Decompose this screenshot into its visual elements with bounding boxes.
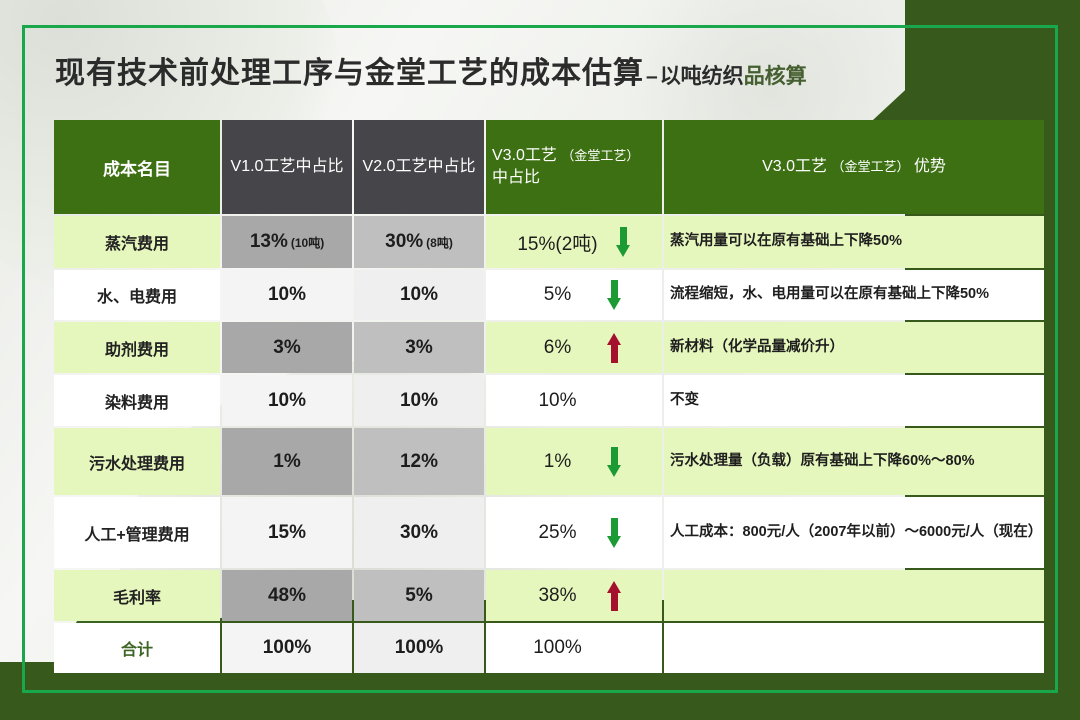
- cell-cost-name-total: 合计: [54, 623, 220, 673]
- v2-value: 12%: [400, 451, 438, 472]
- header-v3-paren: （金堂工艺）: [561, 148, 639, 163]
- v2-value: 30%: [385, 231, 423, 252]
- cell-v3-share: 15%(2吨): [486, 216, 662, 268]
- header-v1-share: V1.0工艺中占比: [222, 120, 352, 214]
- table-row: 染料费用 10% 10% 10% 不变: [54, 375, 1044, 426]
- cell-v2-share: 3%: [354, 322, 484, 373]
- slide-canvas: 现有技术前处理工序与金堂工艺的成本估算 – 以吨纺织品核算 成本名目 V1.0工…: [0, 0, 1080, 720]
- table-header: 成本名目 V1.0工艺中占比 V2.0工艺中占比 V3.0工艺 （金堂工艺） 中…: [54, 120, 1044, 214]
- cell-advantage: 蒸汽用量可以在原有基础上下降50%: [664, 216, 1044, 268]
- cell-v1-share: 48%: [222, 570, 352, 621]
- v2-value: 100%: [395, 637, 444, 658]
- header-cost-name: 成本名目: [54, 120, 220, 214]
- header-adv-paren: （金堂工艺）: [831, 159, 909, 174]
- cell-advantage: 新材料（化学品量减价升）: [664, 322, 1044, 373]
- v1-value: 10%: [268, 390, 306, 411]
- table-row-total: 合计 100% 100% 100%: [54, 623, 1044, 673]
- cell-v3-share: 6%: [486, 322, 662, 373]
- header-adv-main: V3.0工艺: [762, 158, 827, 175]
- cost-comparison-table: 成本名目 V1.0工艺中占比 V2.0工艺中占比 V3.0工艺 （金堂工艺） 中…: [52, 118, 1046, 675]
- cell-v2-share: 30%(8吨): [354, 216, 484, 268]
- v2-value: 5%: [405, 585, 432, 606]
- cell-v1-share: 15%: [222, 497, 352, 568]
- v1-note: (10吨): [291, 236, 324, 250]
- cell-cost-name: 染料费用: [54, 375, 220, 426]
- v3-value: 38%: [527, 585, 589, 607]
- cell-v2-share: 30%: [354, 497, 484, 568]
- v3-value: 5%: [527, 284, 589, 306]
- v2-value: 10%: [400, 284, 438, 305]
- title-subtitle: 以吨纺织品核算: [660, 60, 807, 90]
- arrow-up-icon: [607, 333, 622, 363]
- v3-value-group: 15%(2吨): [517, 229, 597, 256]
- table-row: 污水处理费用 1% 12% 1% 污水处理量（负载）原有基础上下降60%～80%: [54, 428, 1044, 495]
- v3-value: 100%: [527, 637, 589, 659]
- v3-value: 10%: [527, 390, 589, 412]
- v1-value: 10%: [268, 284, 306, 305]
- table-body: 蒸汽费用 13%(10吨) 30%(8吨) 15%(2吨) 蒸汽用量可以在原有基…: [54, 216, 1044, 673]
- cost-table-container: 成本名目 V1.0工艺中占比 V2.0工艺中占比 V3.0工艺 （金堂工艺） 中…: [52, 118, 1038, 675]
- header-v3-share: V3.0工艺 （金堂工艺） 中占比: [486, 120, 662, 214]
- cell-v1-share: 1%: [222, 428, 352, 495]
- header-v3-advantage: V3.0工艺 （金堂工艺） 优势: [664, 120, 1044, 214]
- v1-value: 13%: [250, 231, 288, 252]
- cell-v2-share: 12%: [354, 428, 484, 495]
- title-subtitle-visible: 以吨纺织: [660, 65, 744, 88]
- cell-advantage: 不变: [664, 375, 1044, 426]
- title-main-text: 现有技术前处理工序与金堂工艺的成本估算: [55, 48, 644, 92]
- v1-value: 15%: [268, 522, 306, 543]
- cell-v3-share: 10%: [486, 375, 662, 426]
- cell-v1-share: 10%: [222, 375, 352, 426]
- cell-v3-share: 38%: [486, 570, 662, 621]
- cell-v2-share: 10%: [354, 270, 484, 320]
- v1-value: 1%: [273, 451, 300, 472]
- header-v3-tail: 中占比: [492, 169, 540, 186]
- v2-value: 10%: [400, 390, 438, 411]
- header-v3-main: V3.0工艺: [492, 147, 557, 164]
- table-row: 毛利率 48% 5% 38%: [54, 570, 1044, 621]
- cell-advantage: 流程缩短，水、电用量可以在原有基础上下降50%: [664, 270, 1044, 320]
- page-title: 现有技术前处理工序与金堂工艺的成本估算 – 以吨纺织品核算: [55, 48, 807, 92]
- arrow-down-icon: [616, 227, 631, 257]
- cell-v2-share: 10%: [354, 375, 484, 426]
- v3-value: 6%: [527, 337, 589, 359]
- cell-v1-share: 10%: [222, 270, 352, 320]
- cell-cost-name: 蒸汽费用: [54, 216, 220, 268]
- v3-value: 1%: [527, 451, 589, 473]
- arrow-none-icon: [607, 386, 622, 416]
- cell-advantage: 人工成本：800元/人（2007年以前）～6000元/人（现在）: [664, 497, 1044, 568]
- cell-v3-share: 25%: [486, 497, 662, 568]
- table-row: 助剂费用 3% 3% 6% 新材料（化学品量减价升）: [54, 322, 1044, 373]
- v1-value: 100%: [263, 637, 312, 658]
- title-subtitle-occluded: 品核算: [744, 65, 807, 88]
- cell-v1-share: 13%(10吨): [222, 216, 352, 268]
- cell-v1-share: 3%: [222, 322, 352, 373]
- cell-v3-share: 100%: [486, 623, 662, 673]
- cell-advantage: [664, 623, 1044, 673]
- cell-advantage: [664, 570, 1044, 621]
- v3-value: 15%: [517, 234, 555, 255]
- cell-cost-name: 助剂费用: [54, 322, 220, 373]
- header-adv-tail: 优势: [914, 158, 946, 175]
- cell-cost-name: 污水处理费用: [54, 428, 220, 495]
- table-row: 人工+管理费用 15% 30% 25% 人工成本：800元/人（2007年以前）…: [54, 497, 1044, 568]
- table-header-row: 成本名目 V1.0工艺中占比 V2.0工艺中占比 V3.0工艺 （金堂工艺） 中…: [54, 120, 1044, 214]
- arrow-down-icon: [607, 280, 622, 310]
- cell-v3-share: 1%: [486, 428, 662, 495]
- v1-value: 3%: [273, 337, 300, 358]
- cell-v3-share: 5%: [486, 270, 662, 320]
- arrow-down-icon: [607, 518, 622, 548]
- cell-v1-share: 100%: [222, 623, 352, 673]
- v2-value: 3%: [405, 337, 432, 358]
- table-row: 蒸汽费用 13%(10吨) 30%(8吨) 15%(2吨) 蒸汽用量可以在原有基…: [54, 216, 1044, 268]
- arrow-none-icon: [607, 633, 622, 663]
- v1-value: 48%: [268, 585, 306, 606]
- v2-value: 30%: [400, 522, 438, 543]
- cell-cost-name: 毛利率: [54, 570, 220, 621]
- cell-v2-share: 100%: [354, 623, 484, 673]
- v2-note: (8吨): [426, 236, 453, 250]
- v3-note: (2吨): [555, 234, 597, 255]
- title-dash: –: [644, 65, 660, 89]
- cell-cost-name: 人工+管理费用: [54, 497, 220, 568]
- arrow-down-icon: [607, 447, 622, 477]
- table-row: 水、电费用 10% 10% 5% 流程缩短，水、电用量可以在原有基础上下降50%: [54, 270, 1044, 320]
- cell-v2-share: 5%: [354, 570, 484, 621]
- header-v2-share: V2.0工艺中占比: [354, 120, 484, 214]
- cell-advantage: 污水处理量（负载）原有基础上下降60%～80%: [664, 428, 1044, 495]
- arrow-up-icon: [607, 581, 622, 611]
- v3-value: 25%: [527, 522, 589, 544]
- cell-cost-name: 水、电费用: [54, 270, 220, 320]
